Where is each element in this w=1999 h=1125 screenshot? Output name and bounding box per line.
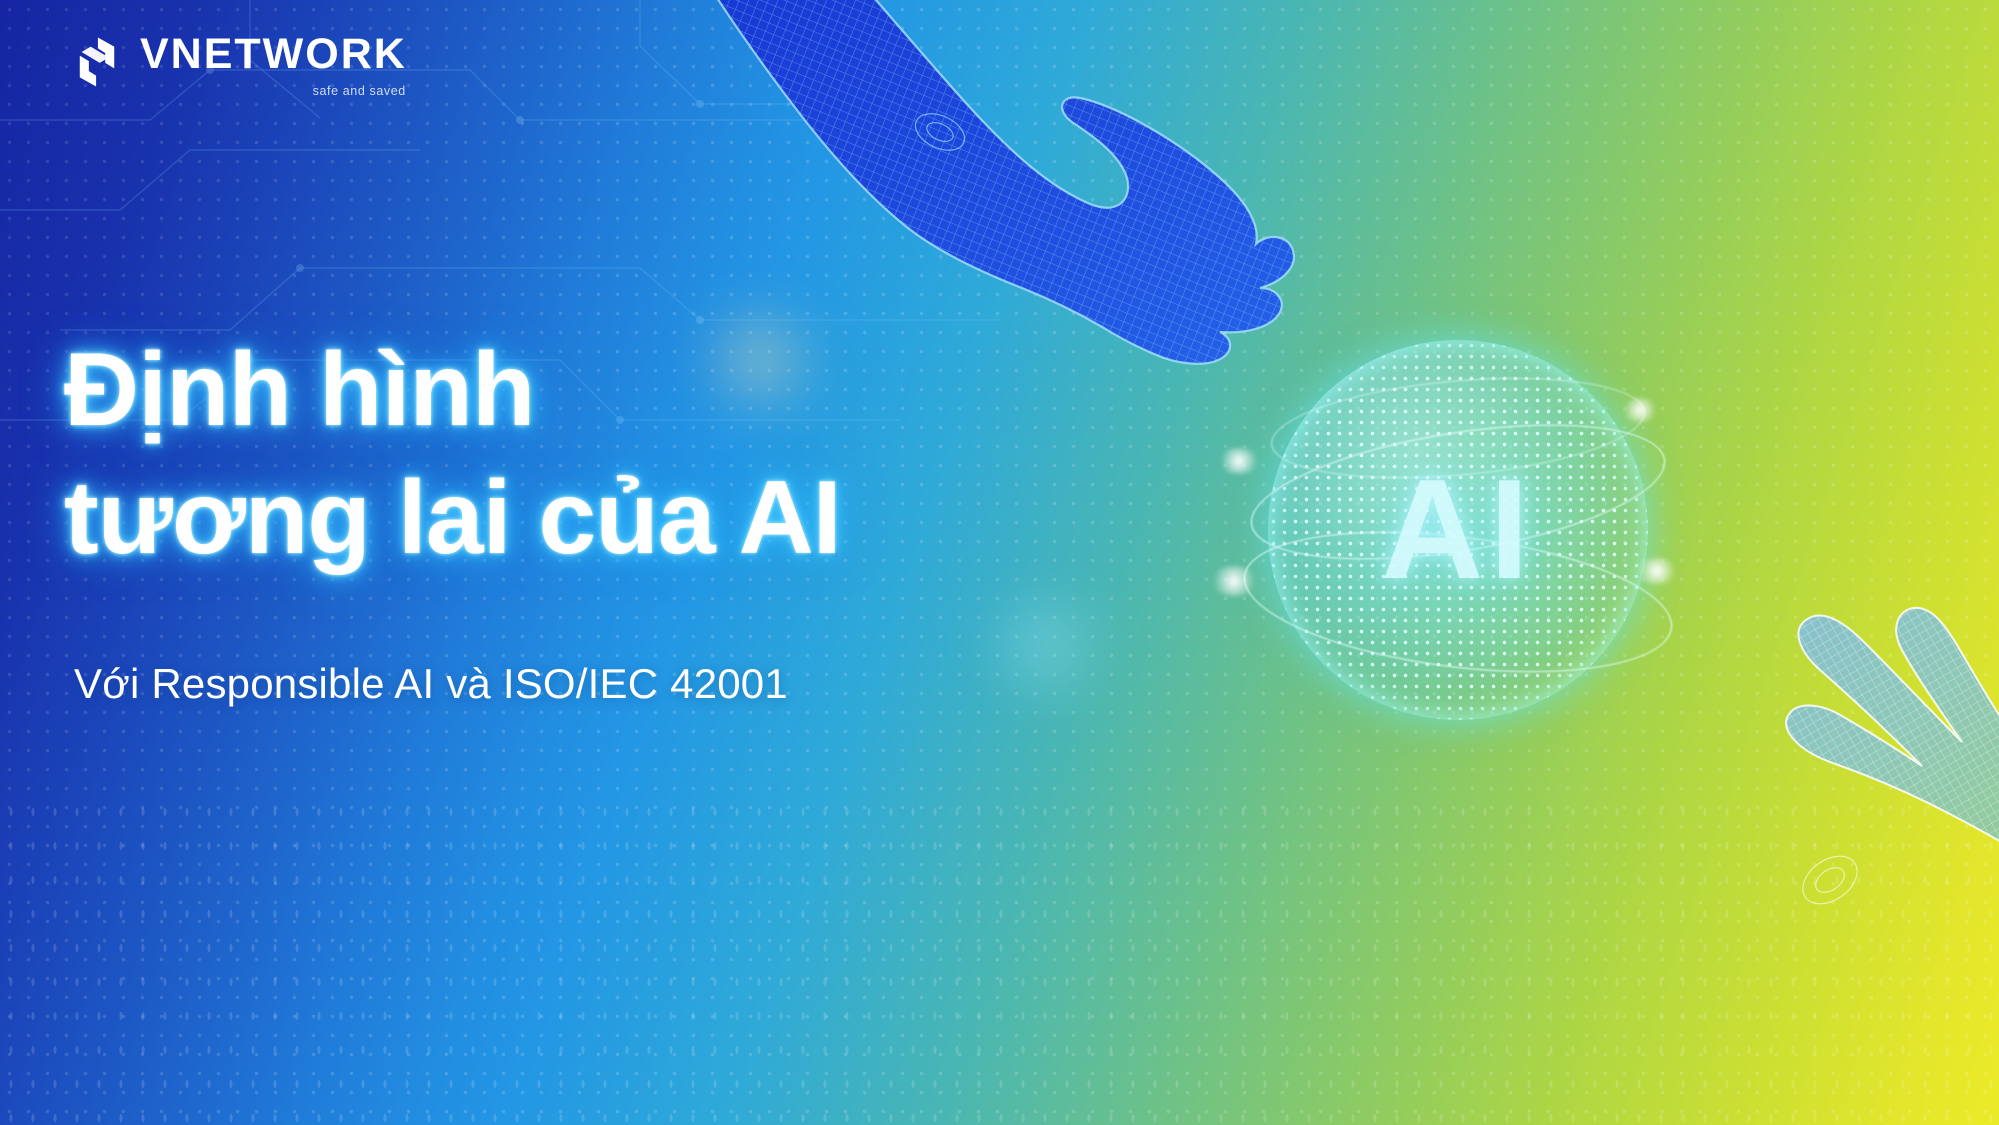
headline-line-2: tương lai của AI [64,458,1144,580]
light-flare-decor-2 [980,590,1110,700]
banner-canvas: AI [0,0,1999,1125]
headline-line-1: Định hình [64,330,1144,452]
wireframe-hand-reaching-up-icon [1530,600,1999,1125]
brand-logo[interactable]: VNETWORK safe and saved [68,33,407,98]
sphere-spark-right [1620,398,1660,422]
sphere-spark-right-2 [1634,558,1680,584]
sphere-spark-left-2 [1208,566,1260,596]
sphere-spark-left [1216,448,1262,474]
brand-name: VNETWORK [140,33,407,76]
hero-subtitle: Với Responsible AI và ISO/IEC 42001 [74,660,788,708]
brand-tagline: safe and saved [313,84,406,98]
vnetwork-hex-logo-icon [68,33,126,91]
hero-headline: Định hình tương lai của AI [64,330,1144,579]
